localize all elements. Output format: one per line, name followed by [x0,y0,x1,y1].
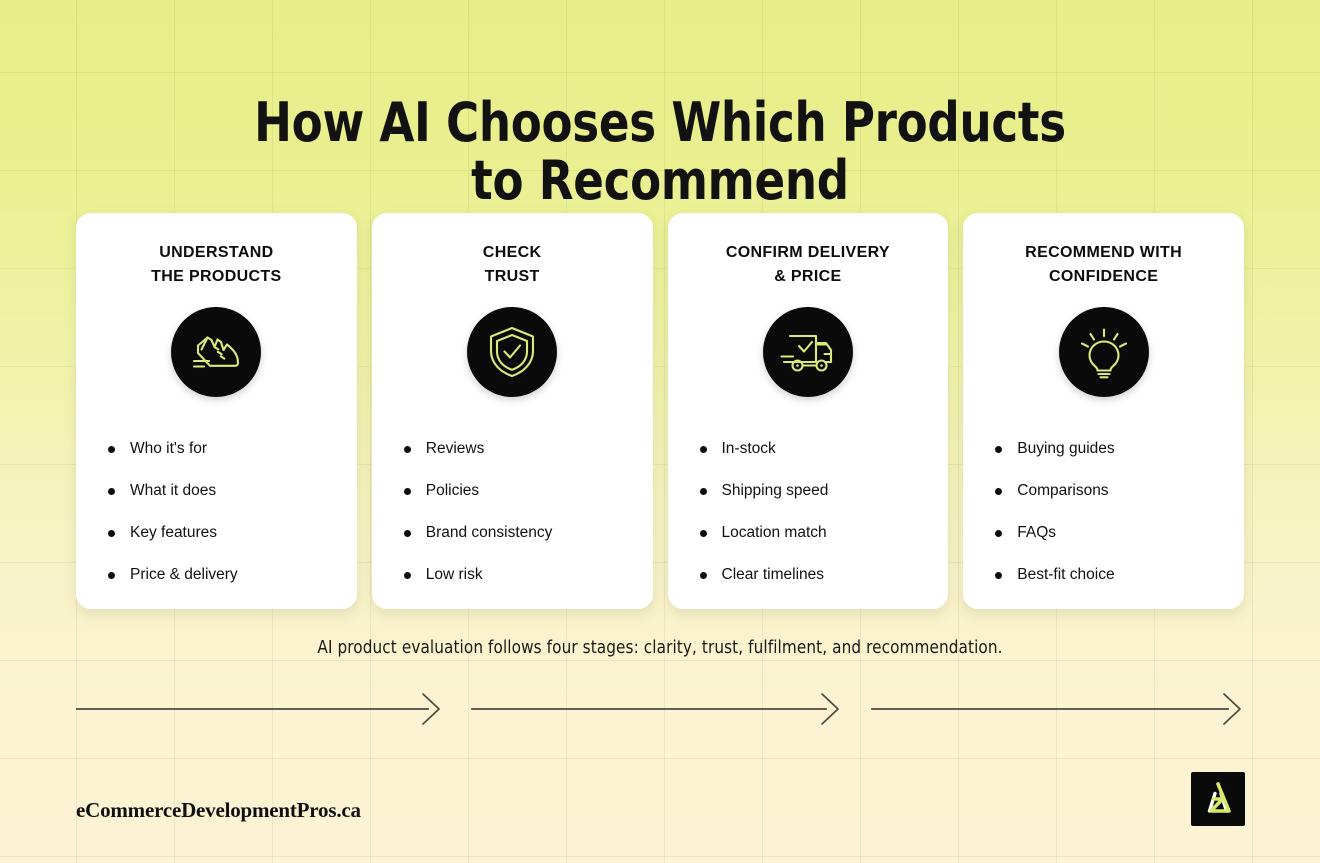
card-bullet-list: In-stock Shipping speed Location match C… [668,428,949,596]
bullet-dot [700,446,707,453]
list-item: Location match [700,512,949,554]
list-item-label: In-stock [722,440,776,458]
list-item-label: Brand consistency [426,524,553,542]
list-item: Best-fit choice [995,554,1244,596]
list-item-label: Policies [426,482,479,500]
card-bullet-list: Who it's for What it does Key features P… [76,428,357,596]
stage-card-understand-the-products[interactable]: UNDERSTAND THE PRODUCTS Who it's for Wha… [76,213,357,609]
page-title-line-2: to Recommend [46,152,1274,210]
bullet-dot [995,446,1002,453]
list-item: Buying guides [995,428,1244,470]
lightbulb-icon [1059,307,1149,397]
stage-card-confirm-delivery-price[interactable]: CONFIRM DELIVERY & PRICE [668,213,949,609]
list-item: Policies [404,470,653,512]
bullet-dot [404,446,411,453]
stage-progress-arrows [76,688,1246,732]
bullet-dot [995,572,1002,579]
list-item-label: Key features [130,524,217,542]
progress-arrow-1 [76,694,439,724]
list-item: Who it's for [108,428,357,470]
card-bullet-list: Buying guides Comparisons FAQs Best-fit … [963,428,1244,596]
list-item-label: Reviews [426,440,485,458]
progress-arrow-2 [472,694,838,724]
bullet-dot [700,572,707,579]
bullet-dot [700,530,707,537]
list-item-label: Buying guides [1017,440,1114,458]
list-item: Shipping speed [700,470,949,512]
card-title: CHECK TRUST [483,241,542,289]
page-title: How AI Chooses Which Products to Recomme… [46,94,1274,210]
bullet-dot [995,488,1002,495]
list-item-label: Price & delivery [130,566,238,584]
list-item-label: Who it's for [130,440,207,458]
list-item: What it does [108,470,357,512]
card-title: CONFIRM DELIVERY & PRICE [726,241,890,289]
triangle-a-logo-icon [1191,772,1245,826]
bullet-dot [108,530,115,537]
list-item: Brand consistency [404,512,653,554]
list-item-label: What it does [130,482,216,500]
brand-name: eCommerceDevelopmentPros.ca [76,798,361,823]
stage-card-check-trust[interactable]: CHECK TRUST Reviews Policies Brand consi… [372,213,653,609]
bullet-dot [404,530,411,537]
stage-card-recommend-with-confidence[interactable]: RECOMMEND WITH CONFIDENCE Buying guides … [963,213,1244,609]
delivery-truck-icon [763,307,853,397]
bullet-dot [700,488,707,495]
list-item: Low risk [404,554,653,596]
list-item: In-stock [700,428,949,470]
list-item-label: Shipping speed [722,482,829,500]
card-title: UNDERSTAND THE PRODUCTS [151,241,281,289]
shield-check-icon [467,307,557,397]
list-item: Comparisons [995,470,1244,512]
bullet-dot [108,488,115,495]
page-title-line-1: How AI Chooses Which Products [46,94,1274,152]
bullet-dot [108,446,115,453]
sneaker-icon [171,307,261,397]
list-item: Clear timelines [700,554,949,596]
list-item: FAQs [995,512,1244,554]
stage-card-list: UNDERSTAND THE PRODUCTS Who it's for Wha… [76,213,1244,609]
list-item: Reviews [404,428,653,470]
bullet-dot [404,488,411,495]
bullet-dot [404,572,411,579]
list-item-label: FAQs [1017,524,1056,542]
infographic-poster: How AI Chooses Which Products to Recomme… [0,0,1320,863]
list-item-label: Comparisons [1017,482,1108,500]
list-item-label: Low risk [426,566,483,584]
list-item: Key features [108,512,357,554]
list-item: Price & delivery [108,554,357,596]
summary-caption: AI product evaluation follows four stage… [20,638,1300,658]
bullet-dot [108,572,115,579]
list-item-label: Best-fit choice [1017,566,1114,584]
list-item-label: Location match [722,524,827,542]
card-title: RECOMMEND WITH CONFIDENCE [1025,241,1182,289]
card-bullet-list: Reviews Policies Brand consistency Low r… [372,428,653,596]
progress-arrow-3 [872,694,1240,724]
list-item-label: Clear timelines [722,566,825,584]
bullet-dot [995,530,1002,537]
